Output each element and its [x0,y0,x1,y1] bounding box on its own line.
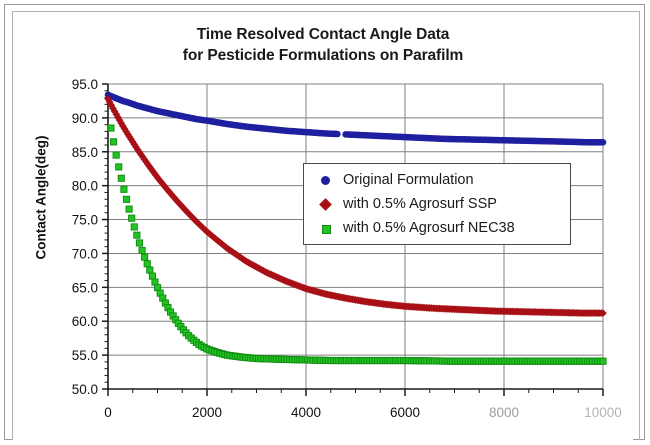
x-tick-label: 2000 [192,405,222,420]
y-tick-label: 85.0 [72,145,98,160]
series-1 [105,92,607,146]
legend-item: with 0.5% Agrosurf SSP [304,192,570,216]
data-point [600,358,606,364]
data-point [134,232,140,238]
data-point [142,254,148,260]
data-point [121,186,127,192]
data-point [144,261,150,267]
data-point [126,206,132,212]
diamond-marker-icon [318,195,336,213]
x-axis-ticks: 0200040006000800010000 [104,389,622,420]
chart-legend: Original Formulationwith 0.5% Agrosurf S… [303,163,571,245]
y-tick-label: 60.0 [72,314,98,329]
chart-screenshot: Time Resolved Contact Angle Data for Pes… [0,0,650,445]
data-point [116,164,122,170]
y-tick-label: 80.0 [72,179,98,194]
data-point [123,196,129,202]
data-point [118,175,124,181]
data-point [108,125,114,131]
data-point [129,215,135,221]
data-point [149,273,155,279]
circle-marker-icon [318,171,336,189]
marker-shape [321,176,330,185]
marker-shape [319,198,332,211]
data-point [110,139,116,145]
y-tick-label: 95.0 [72,77,98,92]
data-point [600,139,607,146]
x-tick-label: 0 [104,405,112,420]
data-point [147,267,153,273]
y-tick-label: 55.0 [72,348,98,363]
legend-item-label: with 0.5% Agrosurf SSP [343,196,497,212]
data-point [131,224,137,230]
legend-item-label: Original Formulation [343,172,474,188]
legend-item: with 0.5% Agrosurf NEC38 [304,216,570,240]
data-point [334,131,341,138]
x-tick-label: 10000 [584,405,622,420]
y-axis-ticks: 50.055.060.065.070.075.080.085.090.095.0 [72,77,108,397]
x-tick-label: 6000 [390,405,420,420]
data-point [136,240,142,246]
y-tick-label: 65.0 [72,280,98,295]
data-point [113,152,119,158]
y-tick-label: 50.0 [72,382,98,397]
chart-card: Time Resolved Contact Angle Data for Pes… [13,12,633,440]
x-tick-label: 8000 [489,405,519,420]
marker-shape [322,225,331,234]
square-marker-icon [318,219,336,237]
y-tick-label: 70.0 [72,246,98,261]
legend-item-label: with 0.5% Agrosurf NEC38 [343,220,515,236]
legend-item: Original Formulation [304,168,570,192]
y-tick-label: 75.0 [72,213,98,228]
y-tick-label: 90.0 [72,111,98,126]
data-point [139,247,145,253]
x-tick-label: 4000 [291,405,321,420]
